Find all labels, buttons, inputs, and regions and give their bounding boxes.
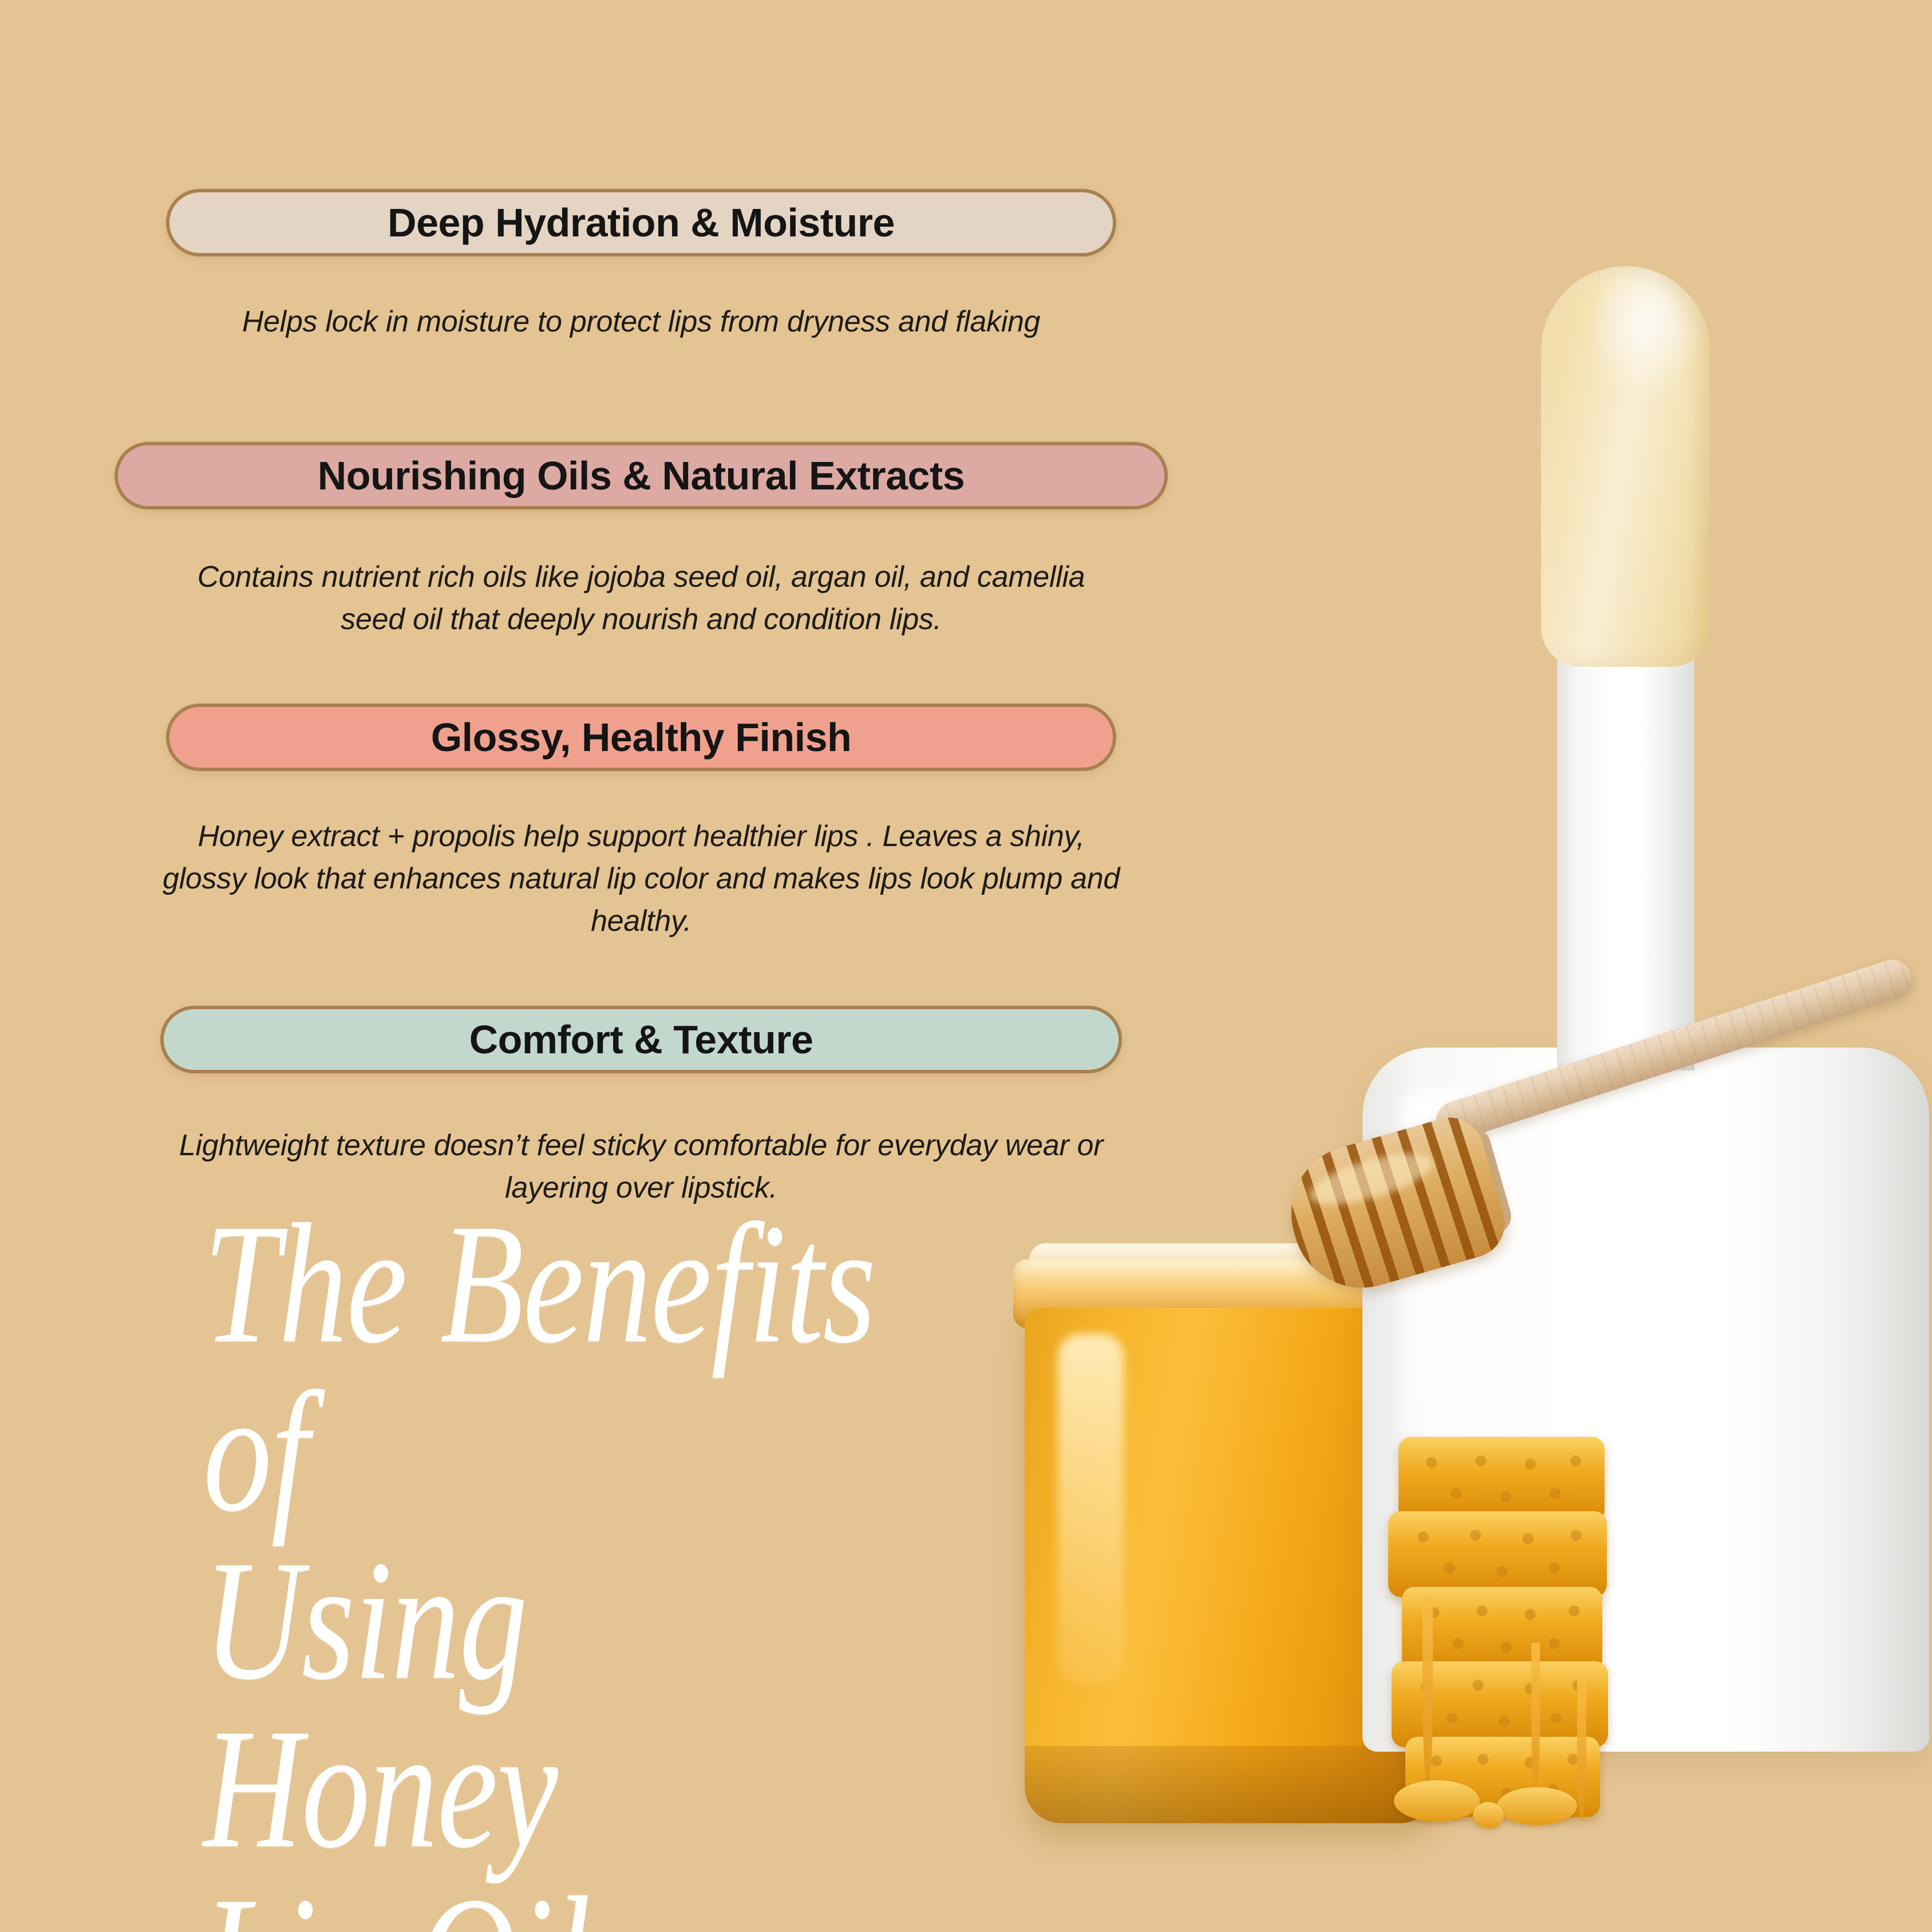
honey-dipper-handle <box>1431 955 1916 1146</box>
benefit-pill-deep-hydration: Deep Hydration & Moisture <box>166 189 1116 256</box>
benefit-description: Contains nutrient rich oils like jojoba … <box>177 556 1105 641</box>
honey-dipper-collar <box>1451 1124 1515 1238</box>
benefit-pill-nourishing-oils: Nourishing Oils & Natural Extracts <box>114 442 1168 509</box>
honeycomb-piece <box>1402 1587 1602 1673</box>
honey-jar <box>1025 1308 1437 1823</box>
benefit-title: Deep Hydration & Moisture <box>388 203 895 243</box>
honey-jar-neck <box>1013 1259 1448 1328</box>
honey-drip <box>1577 1677 1586 1820</box>
honey-pool <box>1394 1780 1480 1822</box>
honey-pool <box>1497 1787 1577 1825</box>
honey-dipper-head <box>1275 1109 1513 1304</box>
honeycomb-piece <box>1388 1511 1607 1597</box>
honey-drip <box>1531 1643 1540 1803</box>
honeycomb-piece <box>1405 1737 1600 1817</box>
page-title-line-3: Lip Oil <box>203 1872 890 1932</box>
lip-oil-applicator-tip <box>1541 266 1710 667</box>
benefits-list: Deep Hydration & Moisture Helps lock in … <box>0 0 1282 1210</box>
page-title-line-2: Using Honey <box>203 1536 890 1872</box>
honey-drip <box>1423 1597 1433 1786</box>
honeycomb-piece <box>1398 1437 1605 1523</box>
benefit-item-deep-hydration: Deep Hydration & Moisture Helps lock in … <box>0 189 1282 343</box>
infographic-poster: Deep Hydration & Moisture Helps lock in … <box>0 0 1932 1932</box>
honeycomb-piece <box>1392 1661 1608 1747</box>
benefit-pill-glossy-finish: Glossy, Healthy Finish <box>166 704 1116 771</box>
lip-oil-bottle-cap <box>1362 1048 1929 1752</box>
benefit-pill-comfort-texture: Comfort & Texture <box>160 1006 1122 1073</box>
honeycomb-stack <box>1388 1437 1611 1832</box>
benefit-title: Glossy, Healthy Finish <box>431 717 852 757</box>
benefit-title: Comfort & Texture <box>469 1020 813 1060</box>
honey-pool <box>1473 1802 1504 1828</box>
lip-oil-bottle-stem <box>1557 653 1694 1070</box>
benefit-item-comfort-texture: Comfort & Texture Lightweight texture do… <box>0 1006 1282 1210</box>
benefit-description: Honey extract + propolis help support he… <box>155 816 1128 942</box>
honey-jar-rim <box>1029 1243 1433 1277</box>
benefit-item-glossy-finish: Glossy, Healthy Finish Honey extract + p… <box>0 704 1282 942</box>
page-title-line-1: The Benefits of <box>203 1199 890 1536</box>
benefit-description: Helps lock in moisture to protect lips f… <box>137 301 1145 343</box>
benefit-title: Nourishing Oils & Natural Extracts <box>318 456 965 496</box>
page-title: The Benefits of Using Honey Lip Oil <box>203 1199 890 1932</box>
benefit-item-nourishing-oils: Nourishing Oils & Natural Extracts Conta… <box>0 442 1282 641</box>
